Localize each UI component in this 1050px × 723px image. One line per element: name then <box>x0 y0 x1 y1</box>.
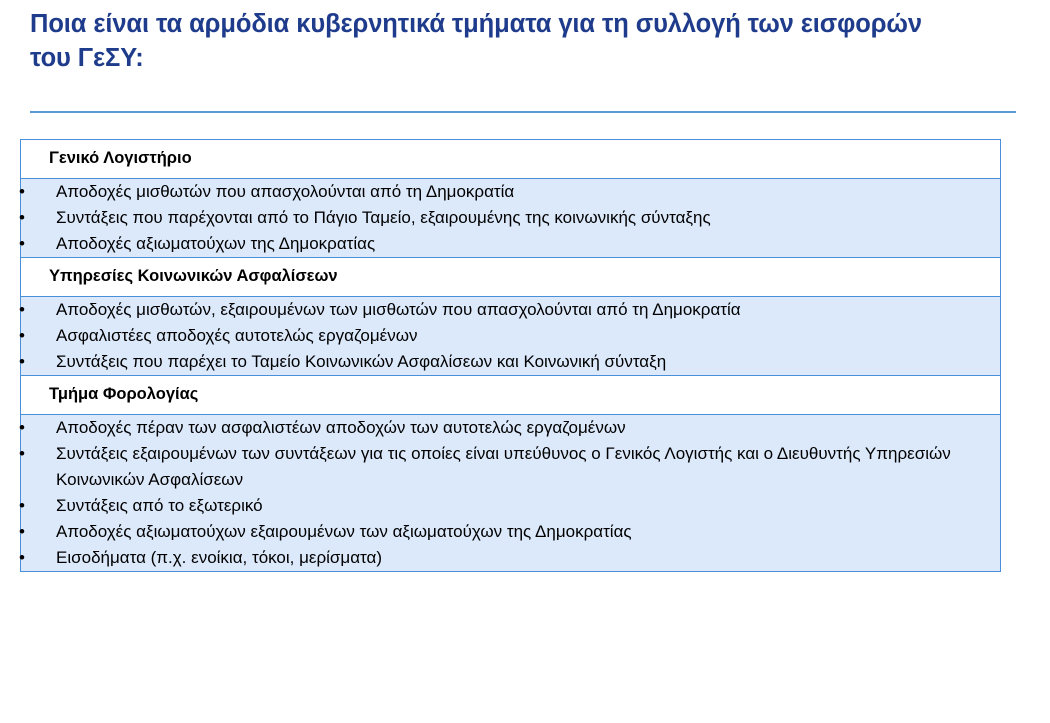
section-body-cell-3: • Αποδοχές πέραν των ασφαλιστέων αποδοχώ… <box>21 415 1001 572</box>
bullet-icon: • <box>17 349 27 375</box>
bullet-icon: • <box>17 545 27 571</box>
list-item: • Συντάξεις εξαιρουμένων των συντάξεων γ… <box>21 441 1000 493</box>
list-item-text: Εισοδήματα (π.χ. ενοίκια, τόκοι, μερίσμα… <box>56 548 382 567</box>
table-row: • Αποδοχές μισθωτών που απασχολούνται απ… <box>21 179 1001 258</box>
section-header-cell-3: Τμήμα Φορολογίας <box>21 376 1001 415</box>
list-item: • Ασφαλιστέες αποδοχές αυτοτελώς εργαζομ… <box>21 323 1000 349</box>
list-item: • Εισοδήματα (π.χ. ενοίκια, τόκοι, μερίσ… <box>21 545 1000 571</box>
bullet-icon: • <box>17 323 27 349</box>
list-item-text: Συντάξεις εξαιρουμένων των συντάξεων για… <box>56 444 951 489</box>
list-item: • Συντάξεις από το εξωτερικό <box>21 493 1000 519</box>
list-item-text: Συντάξεις από το εξωτερικό <box>56 496 263 515</box>
list-item: • Συντάξεις που παρέχονται από το Πάγιο … <box>21 205 1000 231</box>
section-header-cell-1: Γενικό Λογιστήριο <box>21 140 1001 179</box>
bullet-icon: • <box>17 297 27 323</box>
list-item-text: Συντάξεις που παρέχονται από το Πάγιο Τα… <box>56 208 711 227</box>
section-heading-1: Γενικό Λογιστήριο <box>21 140 1000 169</box>
page-title: Ποια είναι τα αρμόδια κυβερνητικά τμήματ… <box>30 8 930 76</box>
table-row: Υπηρεσίες Κοινωνικών Ασφαλίσεων <box>21 258 1001 297</box>
bullet-list-2: • Αποδοχές μισθωτών, εξαιρουμένων των μι… <box>21 297 1000 375</box>
list-item-text: Ασφαλιστέες αποδοχές αυτοτελώς εργαζομέν… <box>56 326 417 345</box>
bullet-icon: • <box>17 441 27 467</box>
bullet-icon: • <box>17 205 27 231</box>
section-heading-3: Τμήμα Φορολογίας <box>21 376 1000 405</box>
table-row: Τμήμα Φορολογίας <box>21 376 1001 415</box>
bullet-icon: • <box>17 415 27 441</box>
departments-table: Γενικό Λογιστήριο • Αποδοχές μισθωτών πο… <box>20 139 1001 572</box>
title-divider-rule <box>30 111 1016 113</box>
section-heading-2: Υπηρεσίες Κοινωνικών Ασφαλίσεων <box>21 258 1000 287</box>
list-item-text: Αποδοχές μισθωτών που απασχολούνται από … <box>56 182 514 201</box>
list-item: • Αποδοχές μισθωτών που απασχολούνται απ… <box>21 179 1000 205</box>
bullet-icon: • <box>17 493 27 519</box>
table-row: • Αποδοχές μισθωτών, εξαιρουμένων των μι… <box>21 297 1001 376</box>
list-item: • Αποδοχές πέραν των ασφαλιστέων αποδοχώ… <box>21 415 1000 441</box>
list-item: • Συντάξεις που παρέχει το Ταμείο Κοινων… <box>21 349 1000 375</box>
list-item-text: Συντάξεις που παρέχει το Ταμείο Κοινωνικ… <box>56 352 666 371</box>
bullet-icon: • <box>17 231 27 257</box>
bullet-icon: • <box>17 519 27 545</box>
list-item-text: Αποδοχές μισθωτών, εξαιρουμένων των μισθ… <box>56 300 741 319</box>
table-row: • Αποδοχές πέραν των ασφαλιστέων αποδοχώ… <box>21 415 1001 572</box>
table-row: Γενικό Λογιστήριο <box>21 140 1001 179</box>
bullet-list-3: • Αποδοχές πέραν των ασφαλιστέων αποδοχώ… <box>21 415 1000 571</box>
bullet-list-1: • Αποδοχές μισθωτών που απασχολούνται απ… <box>21 179 1000 257</box>
section-header-cell-2: Υπηρεσίες Κοινωνικών Ασφαλίσεων <box>21 258 1001 297</box>
list-item-text: Αποδοχές πέραν των ασφαλιστέων αποδοχών … <box>56 418 626 437</box>
section-body-cell-2: • Αποδοχές μισθωτών, εξαιρουμένων των μι… <box>21 297 1001 376</box>
bullet-icon: • <box>17 179 27 205</box>
list-item: • Αποδοχές αξιωματούχων της Δημοκρατίας <box>21 231 1000 257</box>
list-item-text: Αποδοχές αξιωματούχων της Δημοκρατίας <box>56 234 375 253</box>
section-body-cell-1: • Αποδοχές μισθωτών που απασχολούνται απ… <box>21 179 1001 258</box>
list-item-text: Αποδοχές αξιωματούχων εξαιρουμένων των α… <box>56 522 632 541</box>
list-item: • Αποδοχές μισθωτών, εξαιρουμένων των μι… <box>21 297 1000 323</box>
list-item: • Αποδοχές αξιωματούχων εξαιρουμένων των… <box>21 519 1000 545</box>
